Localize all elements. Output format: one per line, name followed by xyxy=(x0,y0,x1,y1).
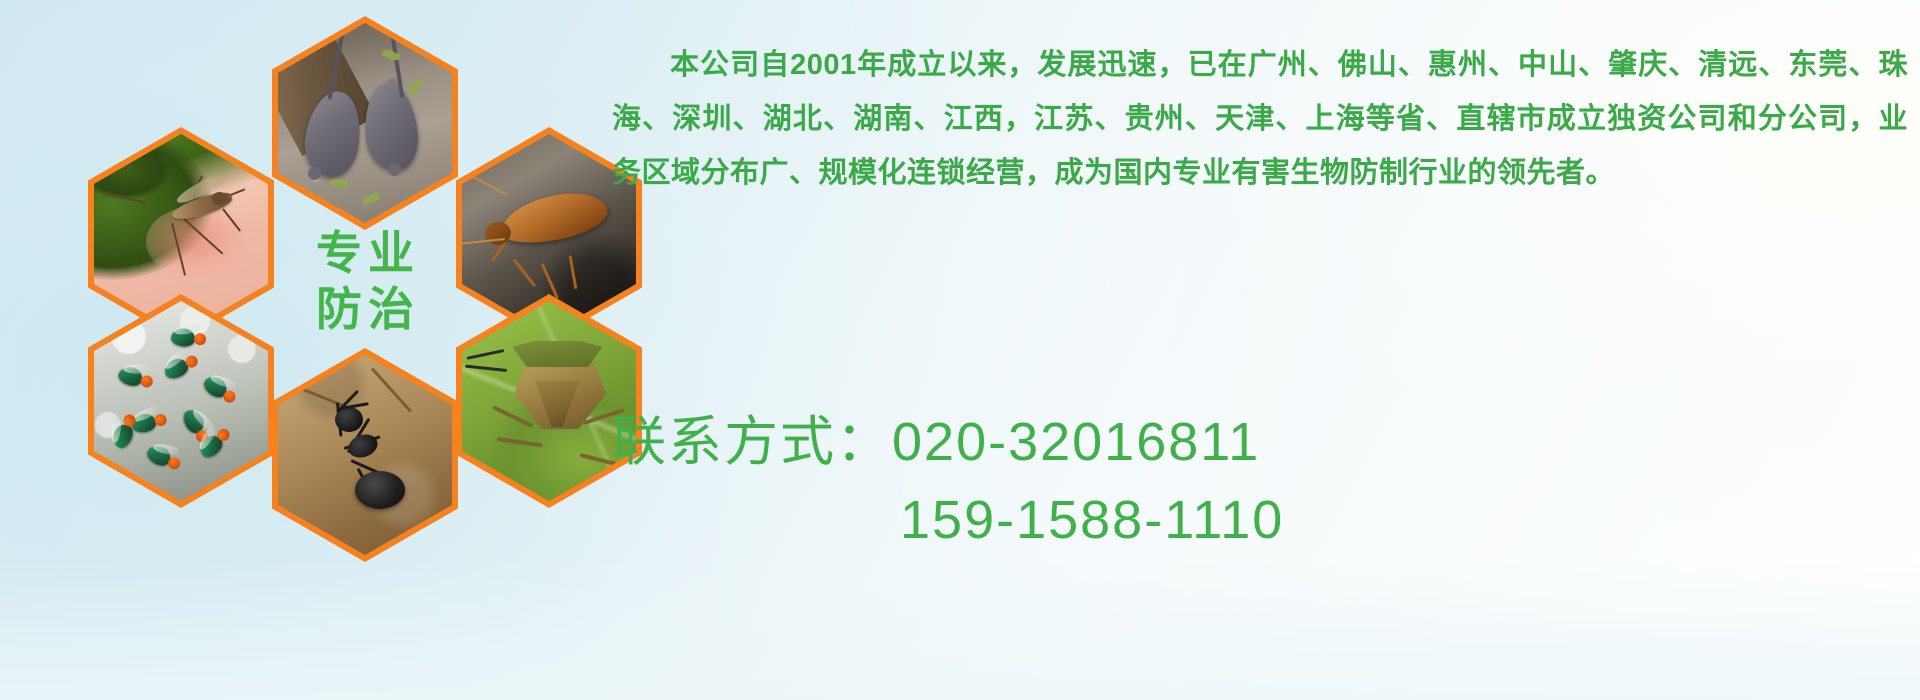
company-intro-paragraph: 本公司自2001年成立以来，发展迅速，已在广州、佛山、惠州、中山、肇庆、清远、东… xyxy=(612,38,1908,200)
fly-3 xyxy=(199,372,240,409)
roach-leg-3 xyxy=(568,255,577,289)
mosquito-leg-5 xyxy=(103,191,146,204)
bug-pronotum xyxy=(512,341,602,367)
hex-cell-flies[interactable] xyxy=(88,294,274,508)
ant-gaster xyxy=(355,471,405,509)
ant-thorax xyxy=(345,431,381,462)
fly-9 xyxy=(170,327,208,351)
promo-banner: 专业 防治 本公司自2001年成立以来，发展迅速，已在广州、佛山、惠州、中山、肇… xyxy=(0,0,1920,700)
fly-2 xyxy=(161,351,202,384)
fly-head xyxy=(154,413,168,427)
fly-wing xyxy=(123,364,149,374)
fly-6 xyxy=(144,442,185,477)
logo-hexagon: 专业 防治 xyxy=(272,174,458,388)
contact-block: 联系方式：020-32016811 159-1588-1110 xyxy=(612,403,1912,559)
logo-line-1: 专业 xyxy=(310,230,420,276)
background-bottom-fade xyxy=(0,560,1920,700)
copy-column: 本公司自2001年成立以来，发展迅速，已在广州、佛山、惠州、中山、肇庆、清远、东… xyxy=(612,38,1912,200)
roach-body xyxy=(497,185,612,250)
fly-head xyxy=(193,333,206,346)
fly-1 xyxy=(116,364,156,394)
fly-head xyxy=(140,374,155,389)
contact-landline-line[interactable]: 联系方式：020-32016811 xyxy=(612,403,1912,481)
roach-leg-1 xyxy=(513,259,536,288)
honeycomb-image-cluster: 专业 防治 xyxy=(88,8,588,568)
contact-mobile-line[interactable]: 159-1588-1110 xyxy=(612,481,1912,559)
logo-line-2: 防治 xyxy=(310,286,420,332)
leaf-bit-2 xyxy=(406,78,425,96)
